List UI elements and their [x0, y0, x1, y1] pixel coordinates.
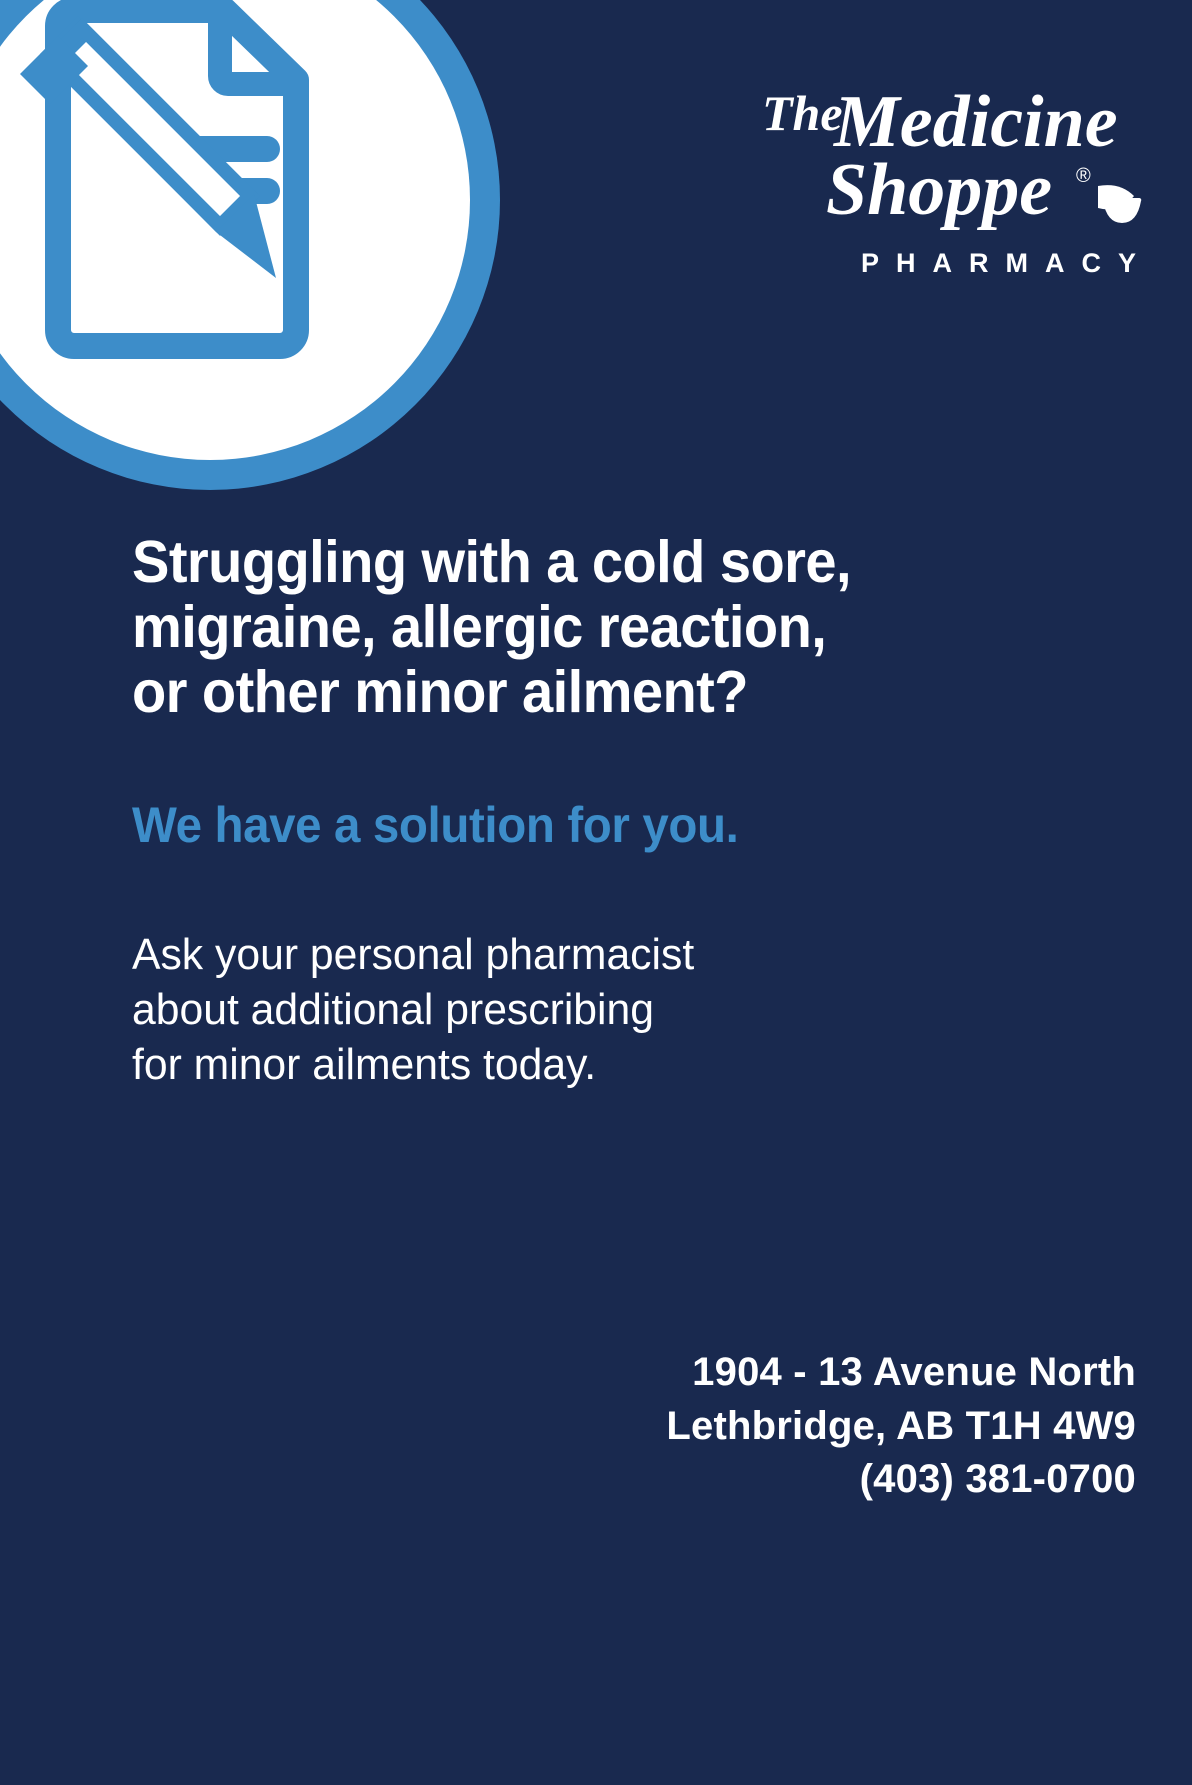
- address-phone[interactable]: (403) 381-0700: [666, 1453, 1136, 1506]
- address-street: 1904 - 13 Avenue North: [666, 1346, 1136, 1399]
- prescription-badge: [0, 0, 500, 490]
- address-city-province-postal: Lethbridge, AB T1H 4W9: [666, 1400, 1136, 1453]
- main-content: Struggling with a cold sore, migraine, a…: [132, 530, 952, 1093]
- poster-canvas: The Medicine Shoppe ® PHARMACY Strugglin…: [0, 0, 1192, 1785]
- page-subheadline: We have a solution for you.: [132, 726, 911, 853]
- store-address-block: 1904 - 13 Avenue North Lethbridge, AB T1…: [666, 1346, 1136, 1506]
- brand-logo-script: The Medicine Shoppe ®: [724, 74, 1144, 244]
- svg-text:Shoppe: Shoppe: [826, 149, 1052, 231]
- headline-line-3: or other minor ailment?: [132, 660, 911, 725]
- headline-line-2: migraine, allergic reaction,: [132, 595, 911, 660]
- body-line-3: for minor ailments today.: [132, 1037, 927, 1092]
- body-line-2: about additional prescribing: [132, 982, 927, 1037]
- svg-text:®: ®: [1076, 165, 1091, 187]
- page-body-copy: Ask your personal pharmacist about addit…: [132, 853, 927, 1093]
- page-headline: Struggling with a cold sore, migraine, a…: [132, 530, 911, 726]
- body-line-1: Ask your personal pharmacist: [132, 927, 927, 982]
- brand-logo: The Medicine Shoppe ® PHARMACY: [724, 74, 1144, 279]
- svg-text:The: The: [762, 85, 843, 141]
- prescription-document-pencil-icon: [12, 0, 412, 418]
- brand-logo-tagline: PHARMACY: [724, 248, 1144, 279]
- headline-line-1: Struggling with a cold sore,: [132, 530, 911, 595]
